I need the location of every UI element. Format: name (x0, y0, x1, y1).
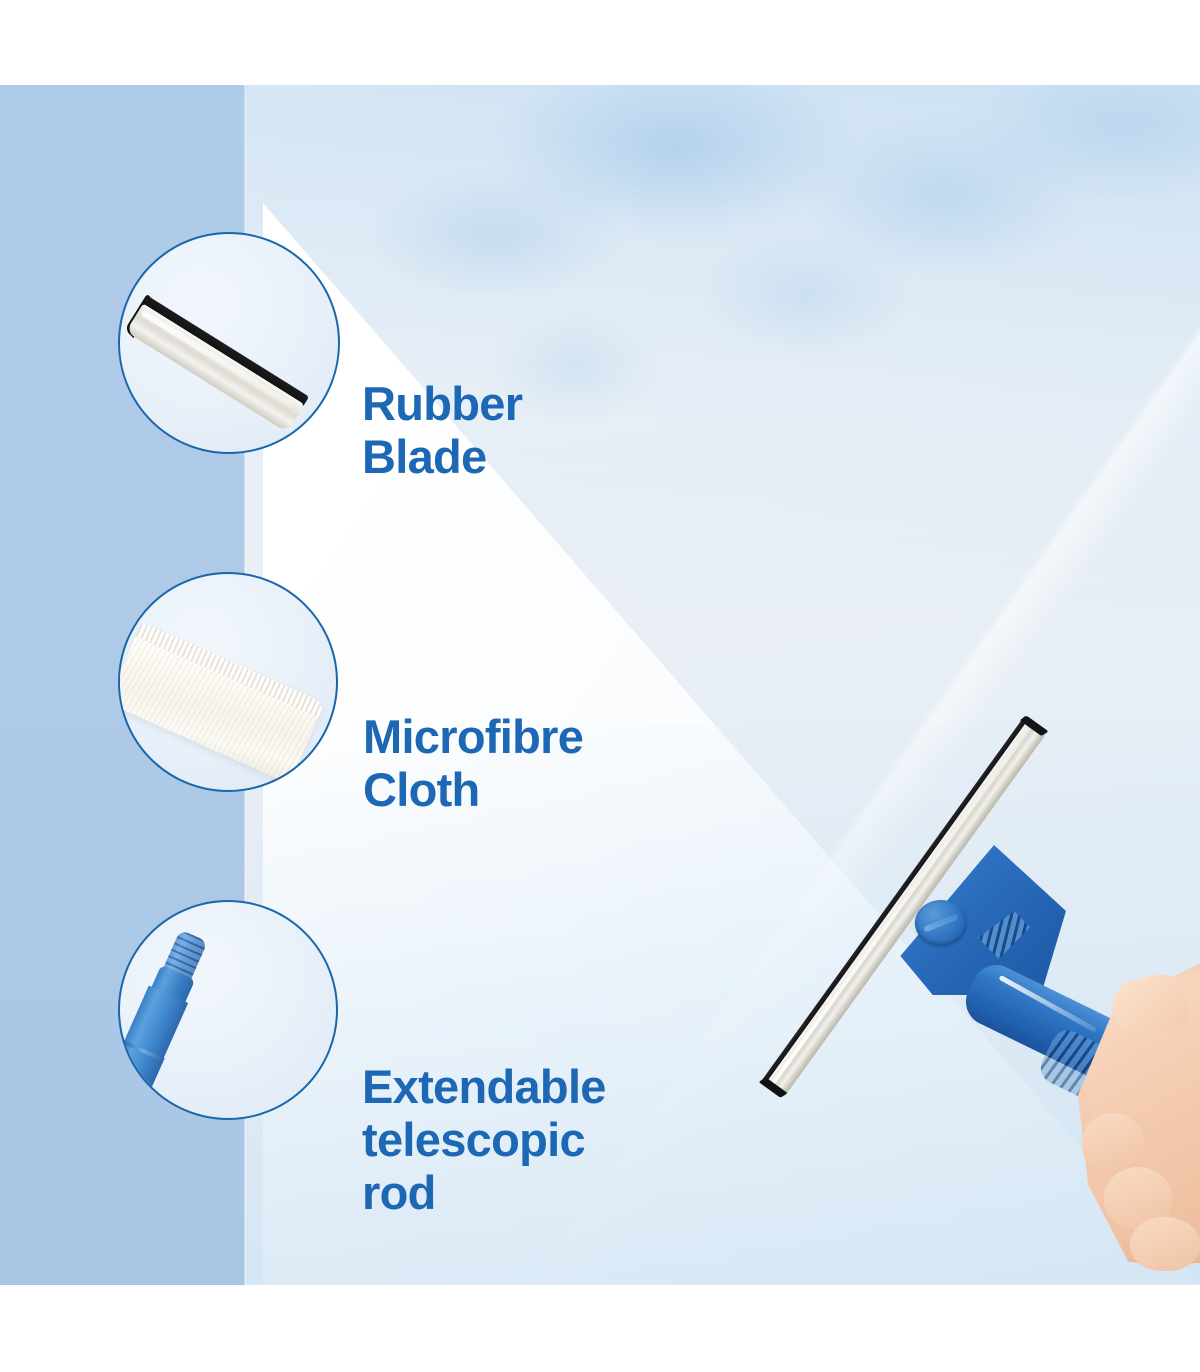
blade-metal-icon (126, 304, 305, 433)
microfibre-cloth-icon (118, 622, 325, 784)
feature-circle-rubber-blade (118, 232, 340, 454)
telescopic-rod-icon (118, 927, 216, 1103)
feature-circle-microfibre-cloth (118, 572, 338, 792)
infographic-canvas: Rubber Blade Microfibre Cloth Extendable… (0, 0, 1200, 1372)
rubber-blade-photo (120, 234, 338, 452)
feature-title-telescopic-rod: Extendable telescopic rod (362, 1060, 606, 1219)
feature-title-microfibre-cloth: Microfibre Cloth (363, 710, 583, 816)
feature-circle-telescopic-rod (118, 900, 338, 1120)
microfibre-cloth-photo (120, 574, 336, 790)
telescopic-rod-photo (120, 902, 336, 1118)
content-band: Rubber Blade Microfibre Cloth Extendable… (0, 85, 1200, 1285)
rubber-blade-icon (125, 296, 309, 434)
feature-title-rubber-blade: Rubber Blade (362, 377, 522, 483)
